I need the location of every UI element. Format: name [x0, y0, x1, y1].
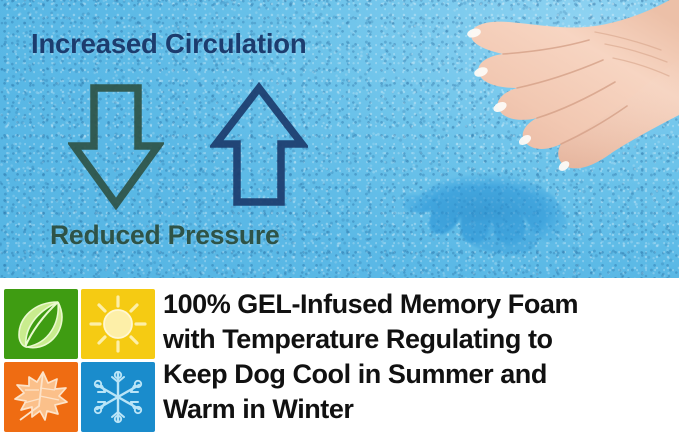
gel-foam-photo: Increased Circulation Reduced Pressure [0, 0, 679, 278]
season-icon-grid [4, 289, 155, 434]
hand-group [379, 0, 679, 278]
caption-line-2: with Temperature Regulating to [163, 322, 679, 357]
callout-increased-circulation: Increased Circulation [31, 28, 306, 60]
season-tile-autumn [4, 362, 78, 432]
leaf-icon [10, 293, 72, 355]
caption-line-1: 100% GEL-Infused Memory Foam [163, 287, 679, 322]
snowflake-icon [89, 368, 147, 426]
callout-reduced-pressure: Reduced Pressure [50, 220, 280, 251]
hand-photo [399, 0, 679, 202]
caption-line-3: Keep Dog Cool in Summer and [163, 357, 679, 392]
arrow-down-icon [68, 82, 164, 210]
product-feature-card: Increased Circulation Reduced Pressure [0, 0, 679, 436]
sun-icon [88, 294, 148, 354]
season-tile-spring [4, 289, 78, 359]
maple-leaf-icon [10, 366, 72, 428]
caption-line-4: Warm in Winter [163, 392, 679, 427]
arrow-up-icon [210, 82, 308, 208]
season-tile-winter [81, 362, 155, 432]
season-tile-summer [81, 289, 155, 359]
caption-text: 100% GEL-Infused Memory Foam with Temper… [163, 287, 679, 427]
caption-panel: 100% GEL-Infused Memory Foam with Temper… [0, 278, 679, 436]
